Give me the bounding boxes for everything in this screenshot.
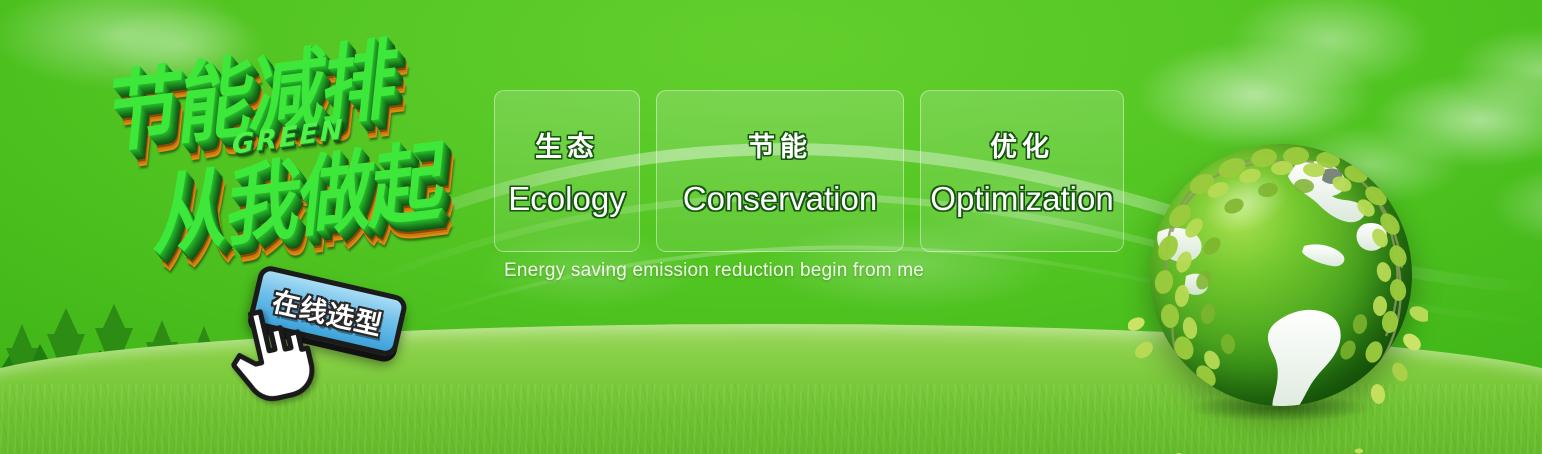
feature-card-list: 生态 Ecology 节能 Conservation 优化 Optimizati… xyxy=(494,90,1124,252)
banner-subtitle: Energy saving emission reduction begin f… xyxy=(504,260,924,282)
feature-card-title-cn: 优化 xyxy=(990,125,1054,164)
leafy-globe-icon xyxy=(1128,128,1428,428)
feature-card-optimization[interactable]: 优化 Optimization xyxy=(920,90,1124,252)
feature-card-title-en: Ecology xyxy=(508,180,625,218)
feature-card-title-cn: 节能 xyxy=(748,125,812,164)
feature-card-title-en: Conservation xyxy=(683,180,877,218)
feature-card-ecology[interactable]: 生态 Ecology xyxy=(494,90,640,252)
eco-hero-banner: 节能减排 GREEN 从我做起 在线选型 生态 Ecology 节能 Conse… xyxy=(0,0,1542,454)
feature-card-title-cn: 生态 xyxy=(535,125,599,164)
feature-card-conservation[interactable]: 节能 Conservation xyxy=(656,90,904,252)
leaf-litter xyxy=(862,424,1542,454)
feature-card-title-en: Optimization xyxy=(930,180,1113,218)
globe-detail-layer xyxy=(1128,128,1428,428)
headline-3d-art: 节能减排 GREEN 从我做起 xyxy=(100,30,500,280)
